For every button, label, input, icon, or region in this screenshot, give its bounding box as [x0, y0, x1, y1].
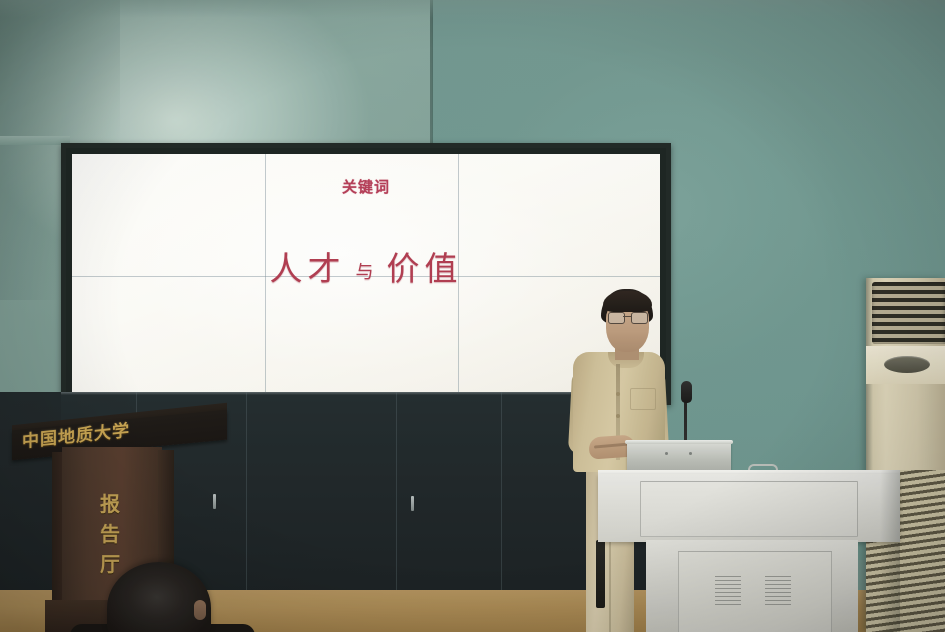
presenter-shirt-pocket — [630, 388, 656, 410]
cabinet-seam-3 — [396, 392, 397, 600]
glasses-bridge — [623, 316, 631, 317]
slide-text-part1: 人才 — [270, 250, 346, 287]
lectern-vent-2 — [765, 576, 791, 608]
cabinet-handle-2[interactable] — [411, 496, 414, 511]
glasses-left-lens — [608, 312, 625, 324]
laptop-marking-2 — [689, 452, 692, 455]
lectern-side-shadow — [880, 470, 900, 632]
air-conditioner-top-grille — [872, 282, 945, 344]
slide-text-connector: 与 — [356, 262, 377, 282]
cabinet-seam-4 — [501, 392, 502, 600]
cabinet-handle-1[interactable] — [213, 494, 216, 509]
lecture-hall-photo: 关键词 人才与价值 中国地质大学 报 告 厅 — [0, 0, 945, 632]
glasses-icon — [607, 312, 648, 322]
air-conditioner-logo — [884, 356, 930, 373]
laptop-marking-1 — [665, 452, 668, 455]
laptop-lid-edge — [625, 440, 733, 444]
glasses-right-lens — [631, 312, 648, 324]
ceiling-band — [0, 0, 945, 18]
podium-hall-label: 报 告 厅 — [95, 490, 125, 580]
presenter-shirt-button-2 — [616, 414, 620, 418]
wall-ledge — [0, 136, 70, 145]
presenter-hair-fringe — [603, 291, 652, 312]
cabinet-seam-2 — [246, 392, 247, 600]
lectern-cable — [596, 540, 605, 608]
podium-hall-char-2: 告 — [95, 520, 125, 550]
podium-hall-char-1: 报 — [95, 490, 125, 520]
presenter-shirt-button-1 — [616, 392, 620, 396]
lectern-vent-1 — [715, 576, 741, 608]
slide-heading: 关键词 — [72, 176, 660, 197]
lectern-front-panel — [640, 481, 858, 537]
lectern-cabinet-door[interactable] — [678, 551, 832, 632]
slide-text-part2: 价值 — [387, 250, 463, 287]
slide-main-text: 人才与价值 — [72, 242, 660, 290]
audience-member-ear — [194, 600, 206, 620]
microphone-icon[interactable] — [681, 381, 692, 403]
video-wall-screen[interactable]: 关键词 人才与价值 — [72, 154, 660, 392]
